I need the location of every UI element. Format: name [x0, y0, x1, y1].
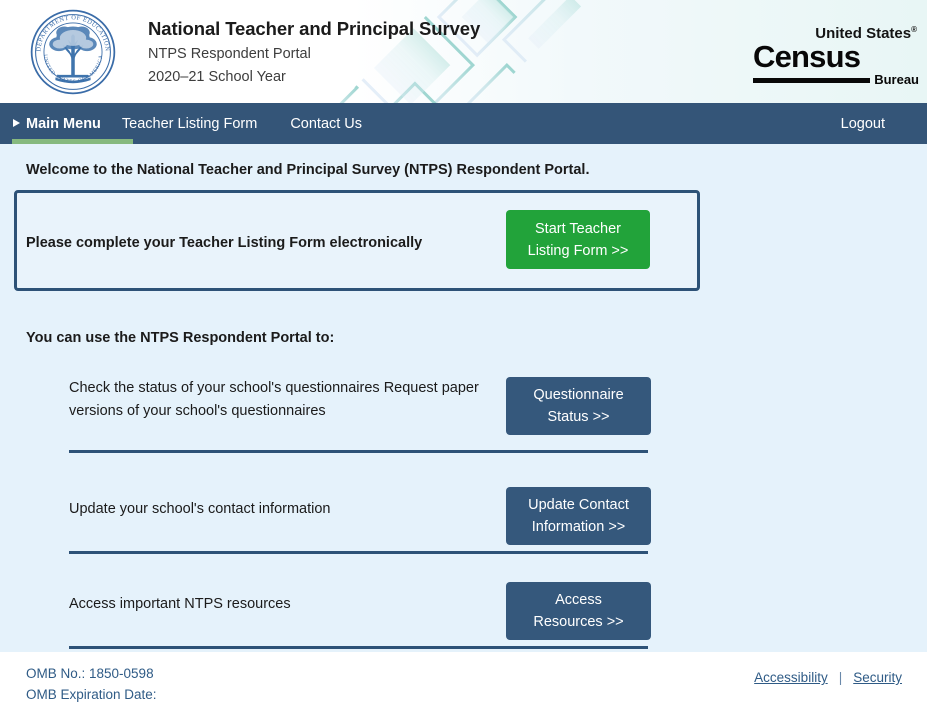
task-row-update-contact: Update your school's contact information… [0, 463, 927, 558]
site-title-block: National Teacher and Principal Survey NT… [148, 18, 480, 89]
omb-number: OMB No.: 1850-0598 [26, 663, 157, 684]
questionnaire-status-button-line1: Questionnaire [533, 384, 623, 406]
omb-expiration-date: OMB Expiration Date: [26, 684, 157, 705]
caret-right-icon [13, 119, 20, 127]
access-resources-button-line2: Resources >> [533, 611, 623, 633]
census-logo-bureau: Bureau [874, 73, 919, 86]
task-divider-2 [69, 551, 648, 554]
department-of-education-seal-icon: DEPARTMENT OF EDUCATION UNITED STATES OF… [28, 8, 118, 96]
task-row-questionnaire-status: Check the status of your school's questi… [0, 369, 927, 457]
logout-link[interactable]: Logout [841, 116, 885, 132]
school-year: 2020–21 School Year [148, 66, 480, 89]
task-divider-1 [69, 450, 648, 453]
task-text-update-contact: Update your school's contact information [69, 498, 489, 521]
nav-item-contact-us[interactable]: Contact Us [290, 103, 362, 144]
main-navigation: Main Menu Teacher Listing Form Contact U… [0, 103, 927, 144]
welcome-message: Welcome to the National Teacher and Prin… [26, 162, 589, 178]
start-teacher-listing-form-button[interactable]: Start Teacher Listing Form >> [506, 210, 650, 269]
nav-item-main-menu-label: Main Menu [26, 116, 101, 132]
access-resources-button-line1: Access [555, 589, 602, 611]
update-contact-information-button-line2: Information >> [532, 516, 626, 538]
update-contact-information-button[interactable]: Update Contact Information >> [506, 487, 651, 545]
census-bureau-logo: United States® Census Bureau [753, 22, 919, 86]
teacher-listing-form-panel: Please complete your Teacher Listing For… [14, 190, 700, 291]
nav-items: Main Menu Teacher Listing Form Contact U… [0, 103, 395, 144]
nav-item-teacher-listing-form[interactable]: Teacher Listing Form [122, 103, 257, 144]
registered-mark: ® [911, 25, 917, 34]
site-footer: OMB No.: 1850-0598 OMB Expiration Date: … [0, 652, 927, 706]
omb-info: OMB No.: 1850-0598 OMB Expiration Date: [26, 663, 157, 705]
teacher-listing-form-label: Please complete your Teacher Listing For… [26, 235, 422, 251]
tasks-section-title: You can use the NTPS Respondent Portal t… [26, 330, 334, 346]
site-header: DEPARTMENT OF EDUCATION UNITED STATES OF… [0, 0, 927, 103]
nav-item-teacher-listing-form-label: Teacher Listing Form [122, 116, 257, 132]
census-logo-wordmark: Census [753, 41, 919, 72]
accessibility-link[interactable]: Accessibility [754, 670, 828, 685]
footer-links: Accessibility | Security [754, 670, 902, 685]
page-title: National Teacher and Principal Survey [148, 18, 480, 40]
nav-item-contact-us-label: Contact Us [290, 116, 362, 132]
page-root: DEPARTMENT OF EDUCATION UNITED STATES OF… [0, 0, 927, 706]
task-row-access-resources: Access important NTPS resources Access R… [0, 558, 927, 652]
start-teacher-listing-form-button-line1: Start Teacher [535, 218, 621, 240]
task-text-questionnaire-status: Check the status of your school's questi… [69, 377, 489, 423]
task-text-access-resources: Access important NTPS resources [69, 593, 489, 616]
main-content: Welcome to the National Teacher and Prin… [0, 144, 927, 652]
census-logo-bar-row: Bureau [753, 73, 919, 86]
questionnaire-status-button[interactable]: Questionnaire Status >> [506, 377, 651, 435]
portal-subtitle: NTPS Respondent Portal [148, 43, 480, 66]
census-logo-bar [753, 78, 870, 83]
questionnaire-status-button-line2: Status >> [547, 406, 609, 428]
footer-link-separator: | [839, 670, 843, 685]
start-teacher-listing-form-button-line2: Listing Form >> [528, 240, 629, 262]
update-contact-information-button-line1: Update Contact [528, 494, 629, 516]
task-divider-3 [69, 646, 648, 649]
nav-item-main-menu[interactable]: Main Menu [12, 103, 115, 144]
security-link[interactable]: Security [853, 670, 902, 685]
access-resources-button[interactable]: Access Resources >> [506, 582, 651, 640]
